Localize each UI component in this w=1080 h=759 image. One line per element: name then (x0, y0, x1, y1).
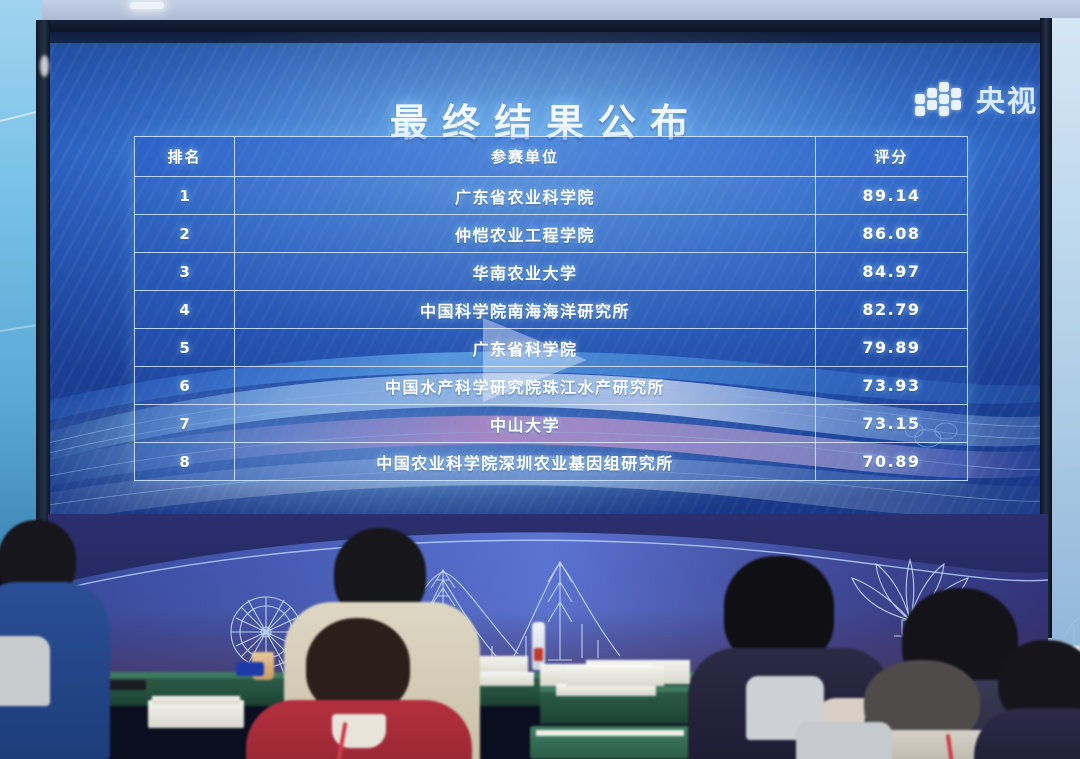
table-row: 3 华南农业大学 84.97 (135, 253, 968, 291)
cctv-logo: 央视 (915, 78, 1038, 120)
notebook-pages (536, 730, 684, 736)
cell-unit: 仲恺农业工程学院 (235, 215, 816, 253)
person-torso (974, 708, 1080, 759)
column-header-rank: 排名 (135, 137, 235, 177)
bezel-highlight (40, 55, 49, 77)
results-table-head: 排名 参赛单位 评分 (135, 137, 968, 177)
cell-unit: 中国科学院南海海洋研究所 (235, 291, 816, 329)
screen-bezel-left (36, 20, 50, 560)
results-table: 排名 参赛单位 评分 1 广东省农业科学院 89.14 2 仲恺农业工程学院 8… (134, 136, 968, 481)
cell-rank: 1 (135, 177, 235, 215)
cell-rank: 5 (135, 329, 235, 367)
cell-rank: 4 (135, 291, 235, 329)
cell-score: 84.97 (815, 253, 967, 291)
screenshot-stage: 最终结果公布 央视 排名 参赛单位 评分 (0, 0, 1080, 759)
led-presentation-screen: 最终结果公布 央视 排名 参赛单位 评分 (48, 30, 1044, 522)
cell-score: 73.15 (815, 405, 967, 443)
table-row: 1 广东省农业科学院 89.14 (135, 177, 968, 215)
cctv-logo-text: 央视 (976, 78, 1038, 120)
chair-back (796, 722, 892, 759)
table-row: 5 广东省科学院 79.89 (135, 329, 968, 367)
cell-rank: 6 (135, 367, 235, 405)
chair-back (0, 636, 50, 706)
paper-stack (148, 700, 244, 728)
audience-person (988, 640, 1080, 759)
column-header-score: 评分 (815, 137, 967, 177)
cell-score: 79.89 (815, 329, 967, 367)
cell-rank: 3 (135, 253, 235, 291)
results-table-body: 1 广东省农业科学院 89.14 2 仲恺农业工程学院 86.08 3 华南农业… (135, 177, 968, 481)
paper-stack (566, 666, 664, 686)
cell-rank: 8 (135, 443, 235, 481)
table-row: 4 中国科学院南海海洋研究所 82.79 (135, 291, 968, 329)
water-bottle (532, 622, 545, 670)
audience-person (258, 618, 458, 759)
cell-score: 86.08 (815, 215, 967, 253)
table-row: 8 中国农业科学院深圳农业基因组研究所 70.89 (135, 443, 968, 481)
cell-unit: 广东省科学院 (235, 329, 816, 367)
table-row: 6 中国水产科学研究院珠江水产研究所 73.93 (135, 367, 968, 405)
cell-unit: 中国水产科学研究院珠江水产研究所 (235, 367, 816, 405)
cell-rank: 2 (135, 215, 235, 253)
cell-rank: 7 (135, 405, 235, 443)
cctv-block-logo-icon (915, 80, 967, 118)
cell-unit: 广东省农业科学院 (235, 177, 816, 215)
table-row: 2 仲恺农业工程学院 86.08 (135, 215, 968, 253)
cell-score: 89.14 (815, 177, 967, 215)
cell-unit: 中山大学 (235, 405, 816, 443)
cell-score: 73.93 (815, 367, 967, 405)
cell-unit: 华南农业大学 (235, 253, 816, 291)
paper-stack-top (152, 696, 240, 704)
table-header-row: 排名 参赛单位 评分 (135, 137, 968, 177)
table-row: 7 中山大学 73.15 (135, 405, 968, 443)
column-header-unit: 参赛单位 (235, 137, 816, 177)
cell-unit: 中国农业科学院深圳农业基因组研究所 (235, 443, 816, 481)
cell-score: 70.89 (815, 443, 967, 481)
screen-bezel-top (36, 20, 1052, 32)
ceiling-light (130, 2, 164, 9)
cell-score: 82.79 (815, 291, 967, 329)
